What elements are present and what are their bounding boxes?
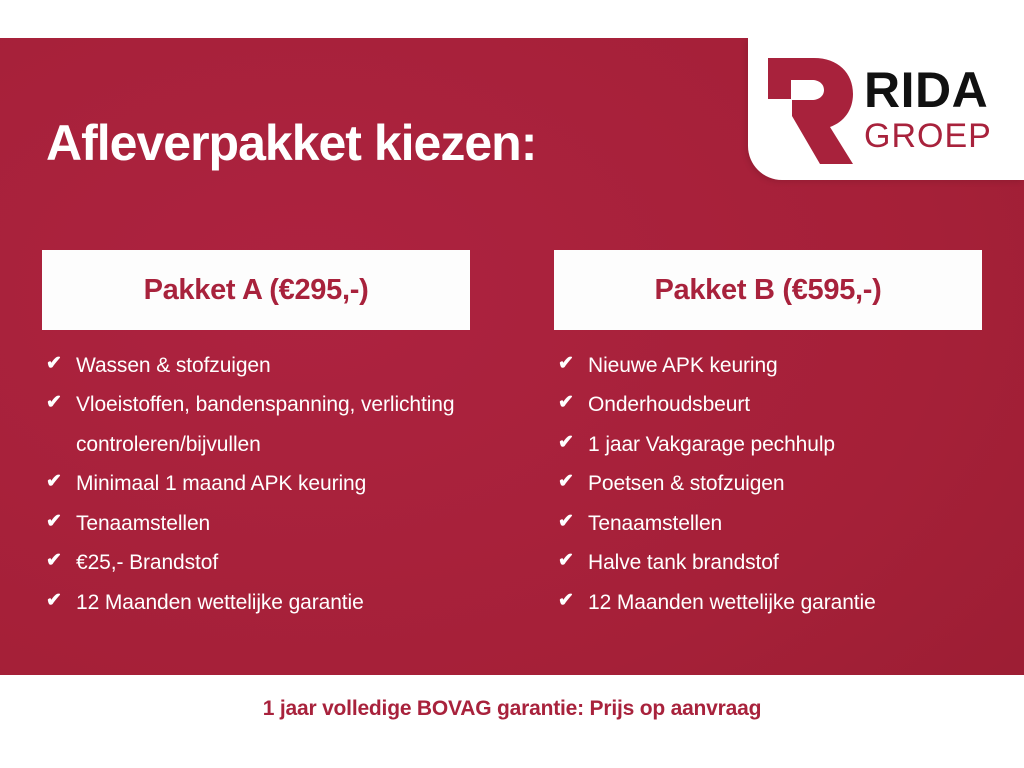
list-item-label: 12 Maanden wettelijke garantie	[588, 583, 982, 622]
logo-wordmark: RIDA GROEP	[864, 65, 992, 153]
list-item-label: Poetsen & stofzuigen	[588, 464, 982, 503]
list-item-label: Wassen & stofzuigen	[76, 346, 470, 385]
list-item: ✔ Wassen & stofzuigen	[42, 346, 470, 385]
footer-bar: 1 jaar volledige BOVAG garantie: Prijs o…	[0, 675, 1024, 768]
list-item: ✔ Poetsen & stofzuigen	[554, 464, 982, 503]
check-icon: ✔	[558, 346, 588, 382]
package-a-feature-list: ✔ Wassen & stofzuigen ✔ Vloeistoffen, ba…	[42, 330, 470, 622]
list-item: ✔ Tenaamstellen	[554, 504, 982, 543]
logo-primary-word: RIDA	[864, 65, 992, 115]
check-icon: ✔	[558, 385, 588, 421]
list-item-label: Vloeistoffen, bandenspanning, verlichtin…	[76, 385, 470, 464]
list-item: ✔ Nieuwe APK keuring	[554, 346, 982, 385]
package-b-header-box[interactable]: Pakket B (€595,-)	[554, 250, 982, 330]
check-icon: ✔	[46, 385, 76, 421]
package-b-header-label: Pakket B (€595,-)	[654, 274, 881, 307]
package-a-header-label: Pakket A (€295,-)	[144, 274, 369, 307]
package-a-header-box[interactable]: Pakket A (€295,-)	[42, 250, 470, 330]
check-icon: ✔	[558, 425, 588, 461]
check-icon: ✔	[46, 504, 76, 540]
page-title: Afleverpakket kiezen:	[46, 114, 536, 172]
check-icon: ✔	[558, 464, 588, 500]
logo-secondary-word: GROEP	[864, 119, 992, 153]
check-icon: ✔	[46, 464, 76, 500]
check-icon: ✔	[46, 583, 76, 619]
package-b-feature-list: ✔ Nieuwe APK keuring ✔ Onderhoudsbeurt ✔…	[554, 330, 982, 622]
list-item-label: Tenaamstellen	[76, 504, 470, 543]
footer-note: 1 jaar volledige BOVAG garantie: Prijs o…	[263, 697, 761, 721]
list-item: ✔ 1 jaar Vakgarage pechhulp	[554, 425, 982, 464]
check-icon: ✔	[558, 543, 588, 579]
list-item: ✔ 12 Maanden wettelijke garantie	[42, 583, 470, 622]
list-item: ✔ 12 Maanden wettelijke garantie	[554, 583, 982, 622]
check-icon: ✔	[558, 504, 588, 540]
red-background-panel: RIDA GROEP Afleverpakket kiezen: Pakket …	[0, 38, 1024, 675]
package-column-a: Pakket A (€295,-) ✔ Wassen & stofzuigen …	[42, 250, 470, 622]
list-item: ✔ Onderhoudsbeurt	[554, 385, 982, 424]
list-item-label: Nieuwe APK keuring	[588, 346, 982, 385]
slide-root: RIDA GROEP Afleverpakket kiezen: Pakket …	[0, 0, 1024, 768]
rida-r-mark-icon	[762, 56, 854, 166]
list-item-label: Tenaamstellen	[588, 504, 982, 543]
list-item: ✔ Tenaamstellen	[42, 504, 470, 543]
check-icon: ✔	[46, 346, 76, 382]
list-item-label: €25,- Brandstof	[76, 543, 470, 582]
check-icon: ✔	[46, 543, 76, 579]
brand-logo-panel: RIDA GROEP	[748, 38, 1024, 180]
list-item: ✔ Minimaal 1 maand APK keuring	[42, 464, 470, 503]
list-item-label: 1 jaar Vakgarage pechhulp	[588, 425, 982, 464]
packages-container: Pakket A (€295,-) ✔ Wassen & stofzuigen …	[42, 250, 982, 622]
list-item: ✔ Halve tank brandstof	[554, 543, 982, 582]
package-column-b: Pakket B (€595,-) ✔ Nieuwe APK keuring ✔…	[554, 250, 982, 622]
list-item: ✔ Vloeistoffen, bandenspanning, verlicht…	[42, 385, 470, 464]
list-item-label: Minimaal 1 maand APK keuring	[76, 464, 470, 503]
list-item-label: Halve tank brandstof	[588, 543, 982, 582]
list-item-label: 12 Maanden wettelijke garantie	[76, 583, 470, 622]
check-icon: ✔	[558, 583, 588, 619]
list-item-label: Onderhoudsbeurt	[588, 385, 982, 424]
list-item: ✔ €25,- Brandstof	[42, 543, 470, 582]
